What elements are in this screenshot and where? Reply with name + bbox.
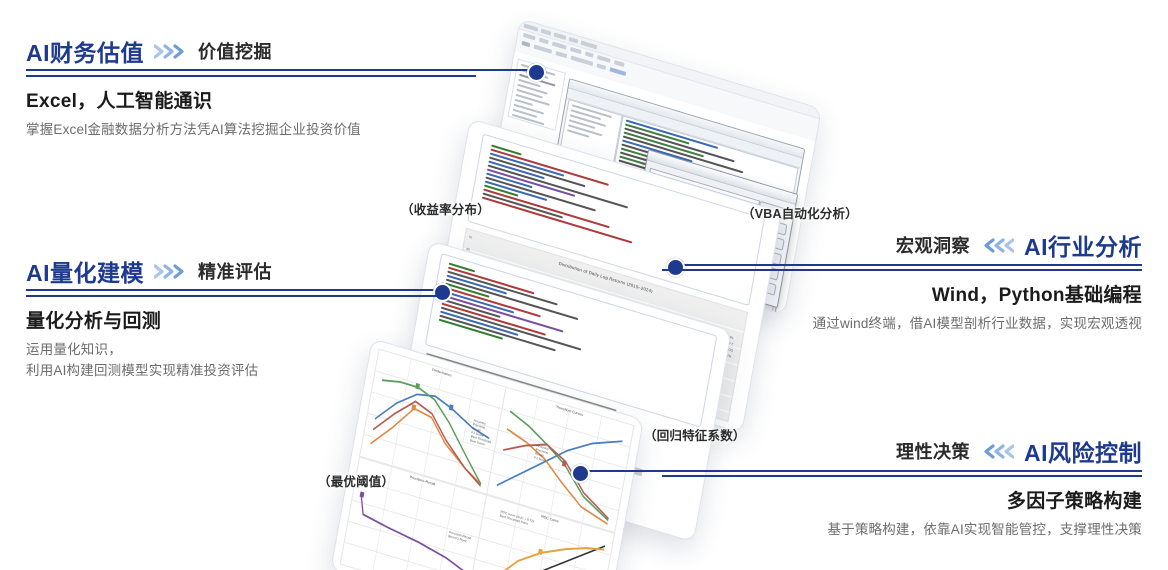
chevron-left-triple-icon (980, 444, 1014, 459)
kicker-main-label: AI风险控制 (1024, 434, 1142, 468)
caption-returns-distribution: （收益率分布） (401, 199, 490, 218)
q2-legend: AccuracyPrecisionRecallF1 Score (534, 444, 549, 464)
kicker-ai-industry-analysis: 宏观洞察 AI行业分析 (662, 228, 1142, 262)
block-title-1: Excel，人工智能通识 (26, 86, 476, 113)
kicker-main-label: AI行业分析 (1024, 228, 1142, 262)
divider-rule-3 (662, 269, 1142, 271)
block-title-2: 量化分析与回测 (26, 306, 446, 333)
kicker-sub-label: 精准评估 (198, 258, 272, 284)
kicker-ai-financial-valuation: AI财务估值 价值挖掘 (26, 34, 476, 68)
connector-dot-4 (571, 464, 590, 483)
block-desc-2: 运用量化知识， 利用AI构建回测模型实现精准投资评估 (26, 340, 446, 382)
kicker-sub-label: 理性决策 (896, 438, 970, 464)
block-ai-risk-control: 理性决策 AI风险控制 多因子策略构建 基于策略构建，依靠AI实现智能管控，支撑… (662, 434, 1142, 541)
chevron-right-triple-icon (154, 264, 188, 279)
divider-rule-4 (662, 475, 1142, 477)
block-ai-financial-valuation: AI财务估值 价值挖掘 Excel，人工智能通识 掌握Excel金融数据分析方法… (26, 34, 476, 141)
block-title-4: 多因子策略构建 (662, 486, 1142, 513)
chevron-left-triple-icon (980, 238, 1014, 253)
caption-optimal-threshold: （最优阈值） (318, 471, 394, 490)
block-ai-industry-analysis: 宏观洞察 AI行业分析 Wind，Python基础编程 通过wind终端，借AI… (662, 228, 1142, 335)
divider-rule-2 (26, 295, 446, 297)
infographic-canvas: Distribution of Daily Log Returns (2015–… (0, 0, 1168, 570)
kicker-main-label: AI财务估值 (26, 34, 144, 68)
kicker-main-label: AI量化建模 (26, 254, 144, 288)
kicker-ai-risk-control: 理性决策 AI风险控制 (662, 434, 1142, 468)
kicker-sub-label: 宏观洞察 (896, 232, 970, 258)
block-ai-quant-modeling: AI量化建模 精准评估 量化分析与回测 运用量化知识， 利用AI构建回测模型实现… (26, 254, 446, 382)
divider-rule-1 (26, 75, 476, 77)
chevron-right-triple-icon (154, 44, 188, 59)
caption-vba-automation: （VBA自动化分析） (742, 203, 858, 222)
kicker-ai-quant-modeling: AI量化建模 精准评估 (26, 254, 446, 288)
block-title-3: Wind，Python基础编程 (662, 280, 1142, 307)
block-desc-4: 基于策略构建，依靠AI实现智能管控，支撑理性决策 (662, 520, 1142, 541)
block-desc-1: 掌握Excel金融数据分析方法凭AI算法挖掘企业投资价值 (26, 120, 476, 141)
kicker-sub-label: 价值挖掘 (198, 38, 272, 64)
block-desc-3: 通过wind终端，借AI模型剖析行业数据，实现宏观透视 (662, 314, 1142, 335)
connector-dot-1 (527, 63, 546, 82)
block-desc-2-line2: 利用AI构建回测模型实现精准投资评估 (26, 361, 446, 382)
block-desc-2-line1: 运用量化知识， (26, 340, 446, 361)
